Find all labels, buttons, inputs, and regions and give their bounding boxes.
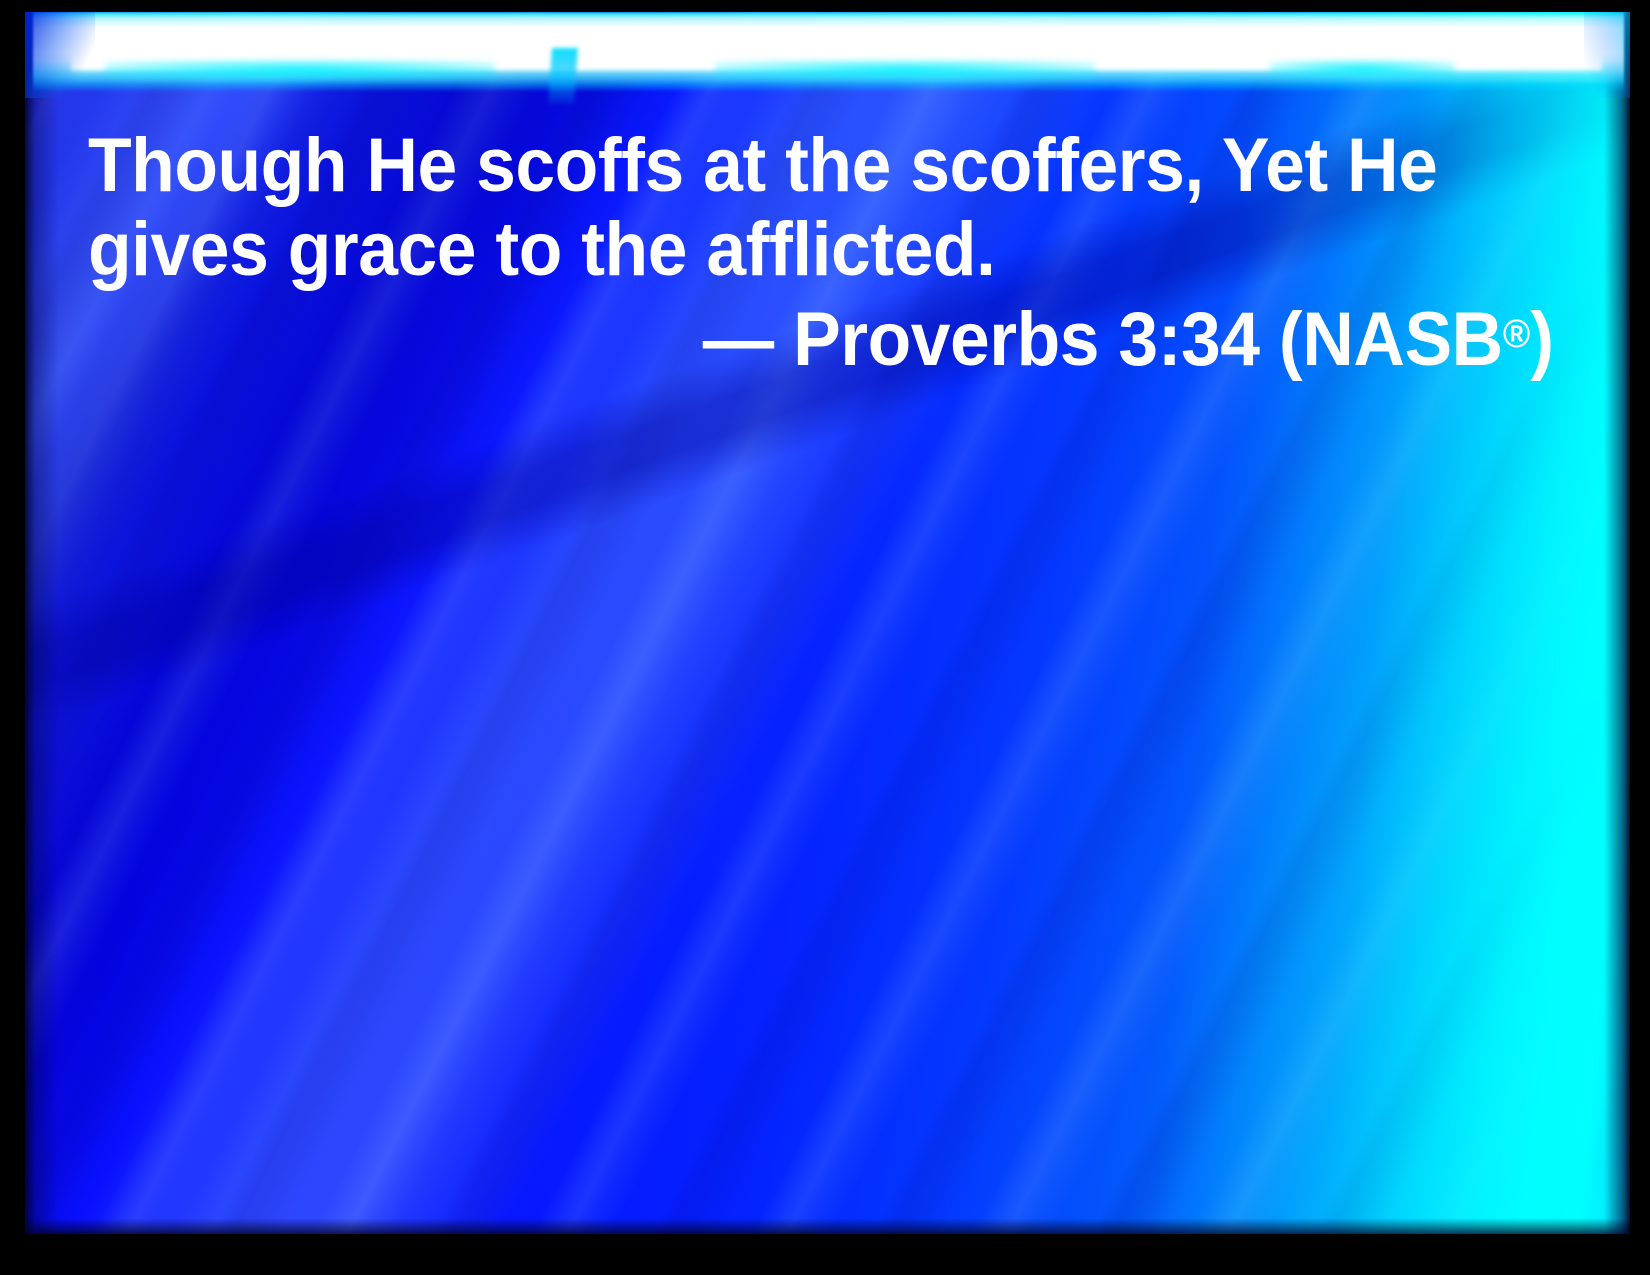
- light-bar-core: [71, 28, 1602, 70]
- attribution-version: NASB: [1302, 297, 1503, 382]
- attribution-spacer: [774, 297, 793, 382]
- slide-canvas: Though He scoffs at the scoffers, Yet He…: [25, 12, 1630, 1234]
- verse-attribution: — Proverbs 3:34 (NASB®): [178, 292, 1593, 382]
- verse-line-2: gives grace to the afflicted.: [88, 208, 1503, 292]
- light-bar-glow: [33, 12, 1624, 92]
- verse-line-1: Though He scoffs at the scoffers, Yet He: [88, 124, 1503, 208]
- top-light-bar: [25, 12, 1630, 98]
- light-bar-left-fade: [25, 12, 95, 98]
- attribution-close-paren: ): [1530, 297, 1553, 382]
- registered-trademark-icon: ®: [1503, 312, 1530, 356]
- verse-text-block: Though He scoffs at the scoffers, Yet He…: [88, 124, 1593, 382]
- light-bar-notch: [548, 48, 578, 104]
- light-bar-cyan-smear-center: [715, 60, 1095, 80]
- slide-root: Though He scoffs at the scoffers, Yet He…: [0, 0, 1650, 1275]
- attribution-open-paren: (: [1260, 297, 1303, 382]
- light-bar-cyan-smear-left: [105, 60, 495, 80]
- attribution-em-dash: —: [703, 297, 774, 382]
- light-bar-right-fade: [1584, 12, 1630, 98]
- attribution-reference: Proverbs 3:34: [793, 297, 1259, 382]
- light-bar-cyan-smear-right: [1270, 60, 1455, 78]
